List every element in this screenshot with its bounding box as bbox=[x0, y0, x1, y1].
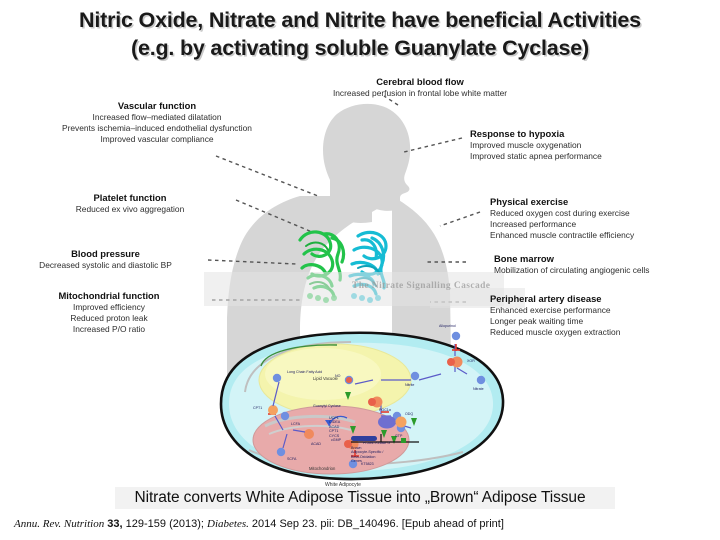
silhouette-neck bbox=[330, 176, 372, 210]
annotation-line: Increased performance bbox=[490, 219, 715, 230]
slide-caption: Nitrate converts White Adipose Tissue in… bbox=[0, 489, 720, 507]
citation-volume: 33, bbox=[107, 518, 122, 530]
page-title: Nitric Oxide, Nitrate and Nitrite have b… bbox=[0, 6, 720, 62]
annotation-heading: Vascular function bbox=[32, 100, 282, 112]
node-label-gtp: GTP bbox=[395, 434, 402, 438]
annotation-line: Improved muscle oxygenation bbox=[470, 140, 710, 151]
title-line-2: (e.g. by activating soluble Guanylate Cy… bbox=[0, 34, 720, 62]
annotation-line: Reduced proton leak bbox=[14, 313, 204, 324]
annotation-heading: Platelet function bbox=[30, 192, 230, 204]
citation-journal-1: Annu. Rev. Nutrition bbox=[14, 518, 104, 530]
watermark-text: The Nitrate Signalling Cascade bbox=[352, 281, 490, 291]
annotation-heading: Peripheral artery disease bbox=[490, 293, 718, 305]
gene-caption: Brown Adipocyte-Specific / Beta-Oxidatio… bbox=[351, 446, 383, 464]
annotation-line: Reduced ex vivo aggregation bbox=[30, 204, 230, 215]
citation: Annu. Rev. Nutrition 33, 129-159 (2013);… bbox=[14, 517, 714, 531]
node-label-cgmp: cGMP bbox=[331, 438, 341, 442]
annotation-line: Reduced oxygen cost during exercise bbox=[490, 208, 715, 219]
node-label-xor: XOR bbox=[467, 359, 475, 363]
leader-bloodpressure bbox=[208, 260, 296, 264]
gene-cycs: CYCS bbox=[329, 434, 340, 438]
node-label-long-chain-fatty-acid: Long Chain Fatty Acid bbox=[287, 370, 321, 374]
title-line-1: Nitric Oxide, Nitrate and Nitrite have b… bbox=[79, 8, 641, 32]
leader-hypoxia bbox=[404, 138, 462, 152]
node-label-nitrate: Nitrate bbox=[473, 387, 484, 391]
node-label-odq: ODQ bbox=[405, 412, 413, 416]
leader-vascular bbox=[216, 156, 318, 196]
annotation-peripheral-artery-disease: Peripheral artery disease Enhanced exerc… bbox=[490, 293, 718, 338]
annotation-line: Enhanced exercise performance bbox=[490, 305, 718, 316]
annotation-line: Reduced muscle oxygen extraction bbox=[490, 327, 718, 338]
node-label-cpt1: CPT1 bbox=[253, 406, 262, 410]
annotation-blood-pressure: Blood pressure Decreased systolic and di… bbox=[8, 248, 203, 271]
silhouette-head bbox=[323, 104, 410, 223]
annotation-line: Increased P/O ratio bbox=[14, 324, 204, 335]
slide-canvas: Nitric Oxide, Nitrate and Nitrite have b… bbox=[0, 0, 720, 540]
mitochondrion-label: Mitochondrion bbox=[309, 466, 335, 471]
annotation-line: Longer peak waiting time bbox=[490, 316, 718, 327]
annotation-heading: Bone marrow bbox=[494, 253, 719, 265]
node-label-acad: ACAD bbox=[311, 442, 321, 446]
annotation-line: Improved efficiency bbox=[14, 302, 204, 313]
lipid-vacuole-label: Lipid Vacuole bbox=[313, 376, 338, 381]
annotation-heading: Response to hypoxia bbox=[470, 128, 710, 140]
annotation-heading: Cerebral blood flow bbox=[300, 76, 540, 88]
pgc1a-blob bbox=[378, 416, 396, 429]
annotation-heading: Physical exercise bbox=[490, 196, 715, 208]
node-label-nitrite: Nitrite bbox=[405, 383, 414, 387]
annotation-line: Increased flow–mediated dilatation bbox=[32, 112, 282, 123]
annotation-physical-exercise: Physical exercise Reduced oxygen cost du… bbox=[490, 196, 715, 241]
annotation-line: Enhanced muscle contractile efficiency bbox=[490, 230, 715, 241]
annotation-cerebral-blood-flow: Cerebral blood flow Increased perfusion … bbox=[300, 76, 540, 99]
annotation-mitochondrial-function: Mitochondrial function Improved efficien… bbox=[14, 290, 204, 335]
annotation-platelet-function: Platelet function Reduced ex vivo aggreg… bbox=[30, 192, 230, 215]
node-label-scfa: SCFA bbox=[287, 457, 296, 461]
adipocyte-diagram: Allopurinol XOR Nitrate Nitrite NO Guany… bbox=[205, 318, 515, 493]
gene-caption-line-4: Genes bbox=[351, 459, 383, 463]
node-label-protein-kinase-g: Protein Kinase G bbox=[363, 441, 390, 445]
annotation-line: Mobilization of circulating angiogenic c… bbox=[494, 265, 719, 276]
citation-pages: 129-159 (2013); bbox=[126, 518, 204, 530]
annotation-line: Improved static apnea performance bbox=[470, 151, 710, 162]
annotation-line: Increased perfusion in frontal lobe whit… bbox=[300, 88, 540, 99]
node-label-guanylyl-cyclase: Guanylyl Cyclase bbox=[313, 404, 341, 408]
node-label-lcfa: LCFA bbox=[291, 422, 300, 426]
annotation-line: Prevents ischemia–induced endothelial dy… bbox=[32, 123, 282, 134]
annotation-line: Decreased systolic and diastolic BP bbox=[8, 260, 203, 271]
annotation-response-to-hypoxia: Response to hypoxia Improved muscle oxyg… bbox=[470, 128, 710, 162]
citation-rest: 2014 Sep 23. pii: DB_140496. [Epub ahead… bbox=[252, 518, 504, 530]
gene-list: UCP1 CIDEA ACAD CPT1 CYCS bbox=[329, 416, 340, 438]
leader-exercise bbox=[440, 212, 480, 226]
annotation-vascular-function: Vascular function Increased flow–mediate… bbox=[32, 100, 282, 145]
citation-journal-2: Diabetes. bbox=[207, 518, 249, 530]
annotation-line: Improved vascular compliance bbox=[32, 134, 282, 145]
annotation-heading: Mitochondrial function bbox=[14, 290, 204, 302]
node-label-pgc1a: PGC1α bbox=[379, 408, 391, 412]
node-label-allopurinol: Allopurinol bbox=[439, 324, 456, 328]
annotation-heading: Blood pressure bbox=[8, 248, 203, 260]
annotation-bone-marrow: Bone marrow Mobilization of circulating … bbox=[494, 253, 719, 276]
